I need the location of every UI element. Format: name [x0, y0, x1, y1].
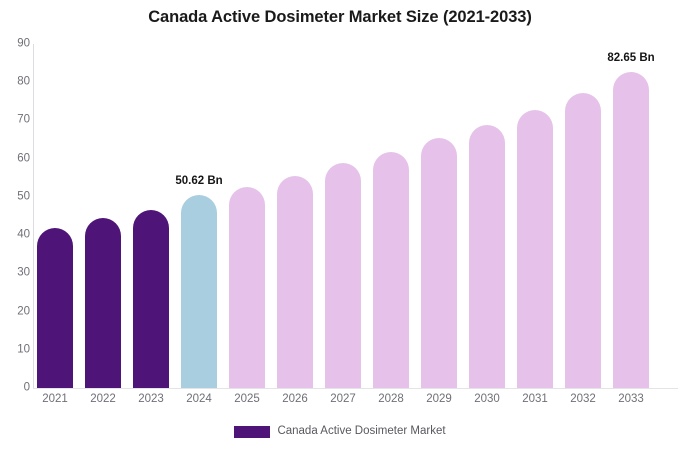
x-axis-line — [33, 388, 678, 389]
y-axis-tick: 80 — [4, 76, 30, 88]
bar[interactable] — [517, 110, 553, 388]
x-axis-tick: 2031 — [511, 394, 559, 406]
x-axis-tick: 2027 — [319, 394, 367, 406]
x-axis-tick: 2032 — [559, 394, 607, 406]
x-axis-tick: 2030 — [463, 394, 511, 406]
bar[interactable] — [469, 125, 505, 388]
x-axis-tick: 2033 — [607, 394, 655, 406]
y-axis-tick: 90 — [4, 38, 30, 50]
y-axis-tick: 0 — [4, 382, 30, 394]
bar[interactable] — [85, 218, 121, 388]
legend-swatch — [234, 426, 270, 438]
y-axis-tick: 40 — [4, 229, 30, 241]
bar[interactable] — [229, 187, 265, 388]
x-axis-tick: 2023 — [127, 394, 175, 406]
bar-value-label: 82.65 Bn — [607, 53, 654, 65]
chart-legend: Canada Active Dosimeter Market — [0, 426, 680, 438]
bar[interactable] — [133, 210, 169, 388]
x-axis-tick: 2025 — [223, 394, 271, 406]
y-axis-tick: 10 — [4, 344, 30, 356]
y-axis-tick-labels: 9080706050403020100 — [0, 0, 30, 450]
bar[interactable] — [565, 93, 601, 388]
x-axis-tick: 2026 — [271, 394, 319, 406]
y-axis-tick: 50 — [4, 191, 30, 203]
legend-label: Canada Active Dosimeter Market — [277, 426, 445, 438]
chart-title: Canada Active Dosimeter Market Size (202… — [0, 8, 680, 27]
bar[interactable] — [37, 228, 73, 388]
x-axis-tick: 2024 — [175, 394, 223, 406]
x-axis-tick: 2028 — [367, 394, 415, 406]
x-axis-tick: 2029 — [415, 394, 463, 406]
y-axis-tick: 20 — [4, 306, 30, 318]
y-axis-tick: 60 — [4, 153, 30, 165]
bar-chart: Canada Active Dosimeter Market Size (202… — [0, 0, 680, 450]
bar[interactable] — [613, 72, 649, 388]
bar[interactable] — [277, 176, 313, 388]
bar[interactable] — [421, 138, 457, 388]
bar[interactable] — [181, 195, 217, 388]
bar[interactable] — [373, 152, 409, 388]
y-axis-tick: 70 — [4, 115, 30, 127]
x-axis-tick: 2021 — [31, 394, 79, 406]
bar-value-label: 50.62 Bn — [175, 176, 222, 188]
bar[interactable] — [325, 163, 361, 388]
x-axis-tick: 2022 — [79, 394, 127, 406]
y-axis-tick: 30 — [4, 268, 30, 280]
